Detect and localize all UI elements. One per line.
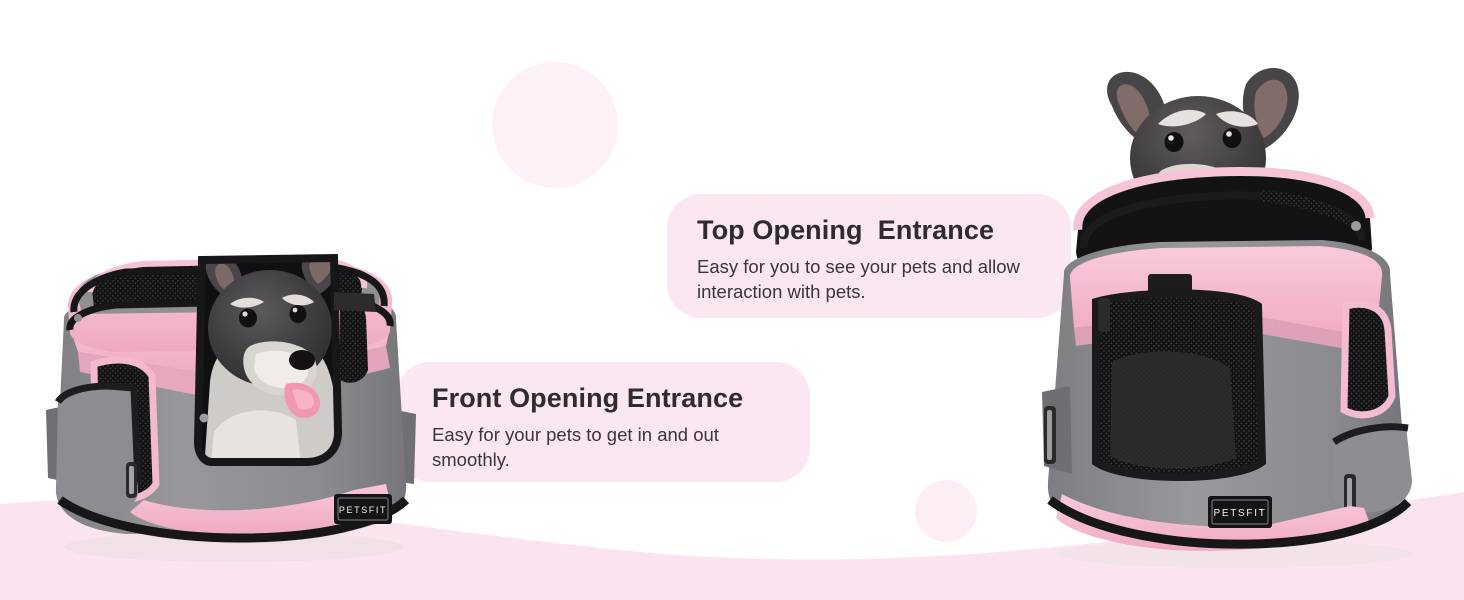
caption-title: Front Opening Entrance bbox=[432, 384, 782, 414]
front-zip-pocket bbox=[56, 384, 138, 512]
banner-canvas: Top Opening Entrance Easy for you to see… bbox=[0, 0, 1464, 600]
decorative-circle-large bbox=[492, 62, 618, 188]
brand-tag-text: PETSFIT bbox=[1213, 508, 1266, 519]
caption-title: Top Opening Entrance bbox=[697, 216, 1043, 246]
buckle-strip bbox=[334, 292, 376, 312]
caption-card-front-opening: Front Opening Entrance Easy for your pet… bbox=[396, 362, 810, 482]
dog-silhouette-inside bbox=[1110, 351, 1236, 468]
front-opening-door bbox=[198, 241, 341, 474]
dog-front-opening bbox=[204, 241, 341, 474]
front-door-zipper-pull bbox=[200, 414, 209, 423]
brand-tag-text: PETSFIT bbox=[339, 505, 387, 515]
dog-eye-left bbox=[1165, 132, 1184, 152]
top-zipper-pull bbox=[1351, 221, 1361, 231]
side-zip-pocket bbox=[1332, 425, 1412, 512]
front-mesh-window bbox=[1096, 294, 1262, 478]
lid-zipper-pull bbox=[74, 314, 82, 322]
product-image-top-opening: PETSFIT bbox=[1020, 62, 1440, 572]
dog-eye-right bbox=[1223, 128, 1242, 148]
brand-tag: PETSFIT bbox=[1208, 496, 1272, 528]
caption-body: Easy for you to see your pets and allow … bbox=[697, 255, 1043, 305]
caption-card-top-opening: Top Opening Entrance Easy for you to see… bbox=[667, 194, 1071, 318]
brand-tag: PETSFIT bbox=[334, 494, 392, 524]
product-image-front-opening: PETSFIT bbox=[34, 132, 426, 562]
side-mesh-window bbox=[1344, 304, 1392, 415]
caption-body: Easy for your pets to get in and out smo… bbox=[432, 423, 782, 473]
